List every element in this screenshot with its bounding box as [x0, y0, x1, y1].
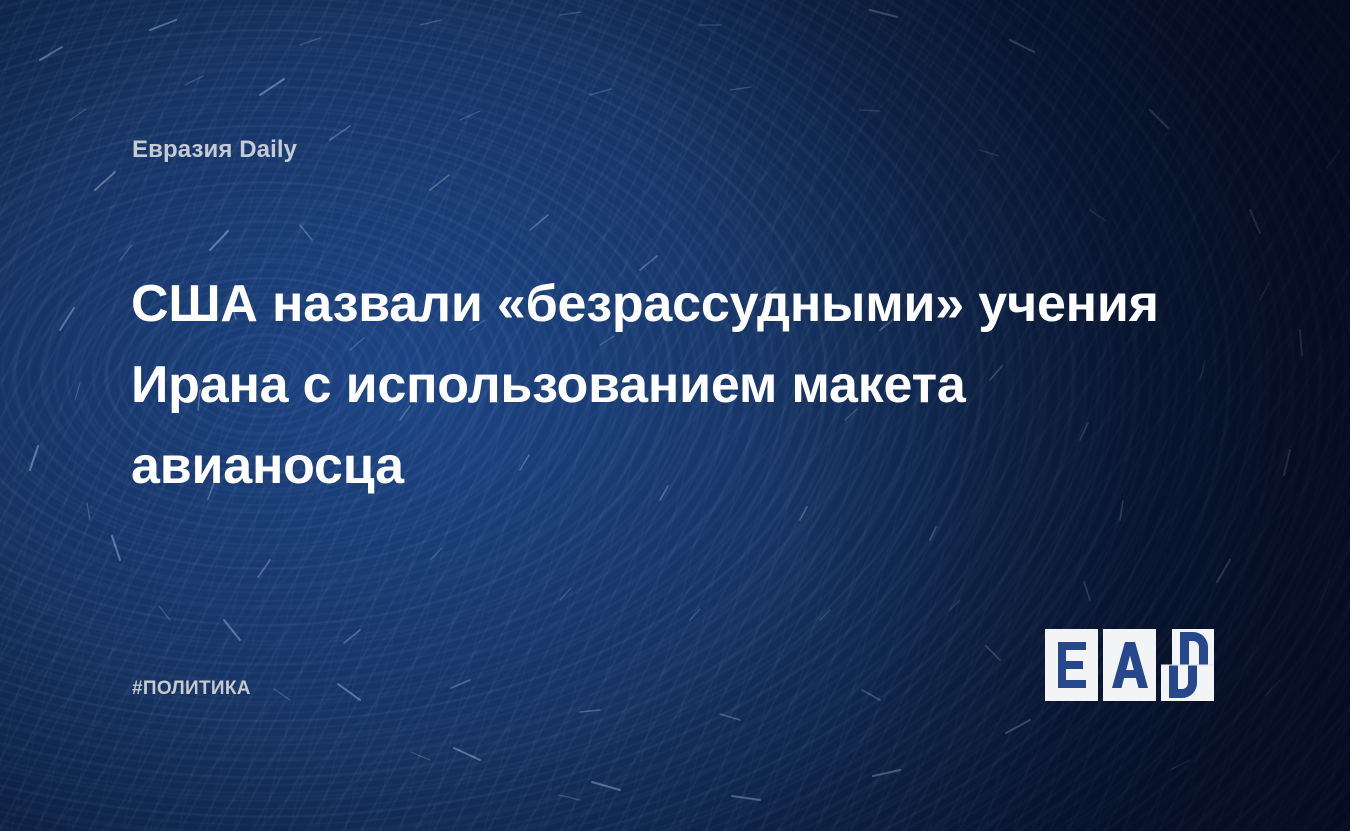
letter-e-icon — [1056, 642, 1088, 688]
letter-d-split-icon — [1161, 629, 1214, 701]
publisher-name: Евразия Daily — [132, 136, 297, 164]
letter-a-icon — [1112, 642, 1148, 688]
logo-tile-a — [1103, 629, 1156, 701]
headline: США назвали «безрассудными» учения Ирана… — [131, 264, 1206, 507]
news-share-card: Евразия Daily США назвали «безрассудными… — [0, 0, 1350, 831]
logo-tile-e — [1045, 629, 1098, 701]
logo-tile-d — [1161, 629, 1214, 701]
eadaily-logo — [1045, 629, 1225, 701]
category-hashtag: #ПОЛИТИКА — [132, 678, 251, 700]
